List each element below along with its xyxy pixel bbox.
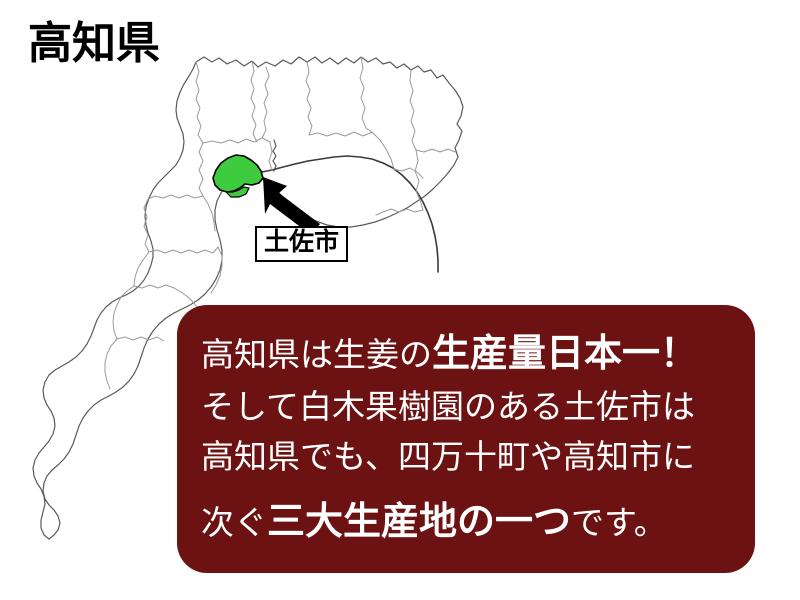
info-line-2: そして白木果樹園のある土佐市は: [177, 390, 755, 423]
info-line-1-segment-1: 高知県は生姜の: [201, 336, 432, 373]
info-line-2-segment-1: そして白木果樹園のある土佐市は: [201, 388, 695, 425]
info-line-1-segment-2: 生産量日本一！: [432, 333, 698, 375]
info-line-1: 高知県は生姜の生産量日本一！: [177, 335, 755, 373]
info-line-4-segment-3: です。: [571, 504, 667, 541]
info-line-4: 次ぐ三大生産地の一つです。: [177, 503, 755, 541]
info-line-4-segment-1: 次ぐ: [201, 504, 267, 541]
info-panel: 高知県は生姜の生産量日本一！ そして白木果樹園のある土佐市は 高知県でも、四万十…: [177, 305, 755, 573]
page-title: 高知県: [28, 22, 160, 66]
info-line-3-segment-1: 高知県でも、四万十町や高知市に: [201, 438, 695, 475]
info-line-3: 高知県でも、四万十町や高知市に: [177, 440, 755, 473]
info-line-4-segment-2: 三大生産地の一つ: [267, 501, 571, 543]
kochi-prefecture-infographic: 高知県 土佐市 高知県は生姜の生産量日本一！ そして白木果樹園のある土佐市は 高…: [0, 0, 800, 600]
status-badge: 土佐市: [255, 226, 348, 262]
